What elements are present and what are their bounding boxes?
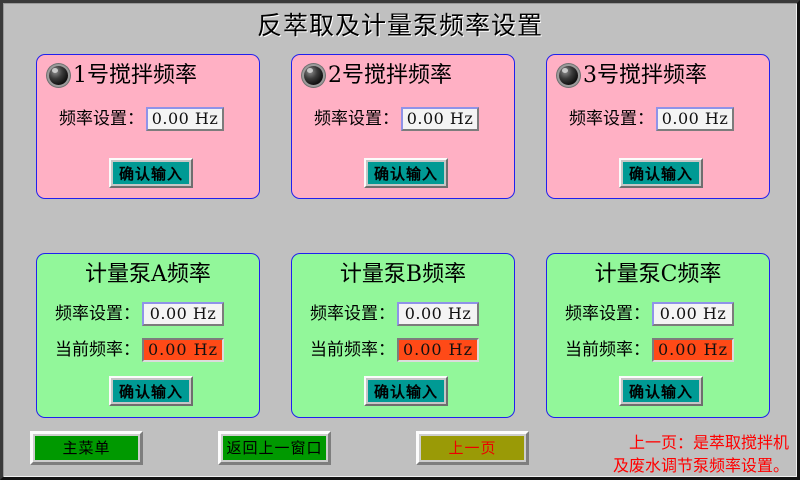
prev-page-button-label: 上一页 [421, 436, 524, 460]
setpoint-label: 频率设置： [314, 109, 399, 129]
main-menu-button-label: 主菜单 [35, 436, 138, 460]
current-frequency-label: 当前频率： [565, 340, 650, 360]
main-menu-button[interactable]: 主菜单 [30, 431, 143, 465]
page-title: 反萃取及计量泵频率设置 [3, 11, 797, 41]
confirm-button[interactable]: 确认输入 [109, 158, 193, 188]
current-frequency-value: 0.00 Hz [142, 338, 224, 362]
setpoint-input[interactable]: 0.00 Hz [401, 107, 479, 131]
confirm-button-label: 确认输入 [368, 162, 444, 184]
confirm-button-label: 确认输入 [368, 380, 444, 402]
mixer-panel-2: 2号搅拌频率 频率设置： 0.00 Hz 确认输入 [291, 54, 515, 199]
confirm-button[interactable]: 确认输入 [619, 376, 703, 406]
prev-page-button[interactable]: 上一页 [416, 431, 529, 465]
confirm-button[interactable]: 确认输入 [364, 376, 448, 406]
setpoint-input[interactable]: 0.00 Hz [397, 302, 479, 326]
panel-heading: 2号搅拌频率 [292, 62, 550, 90]
setpoint-label: 频率设置： [565, 304, 650, 324]
panel-heading: 计量泵A频率 [37, 261, 259, 289]
setpoint-label: 频率设置： [569, 109, 654, 129]
setpoint-label: 频率设置： [59, 109, 144, 129]
confirm-button-label: 确认输入 [113, 162, 189, 184]
mixer-panel-3: 3号搅拌频率 频率设置： 0.00 Hz 确认输入 [546, 54, 770, 199]
setpoint-input[interactable]: 0.00 Hz [656, 107, 734, 131]
current-frequency-value: 0.00 Hz [652, 338, 734, 362]
current-frequency-value: 0.00 Hz [397, 338, 479, 362]
pump-panel-b: 计量泵B频率 频率设置： 0.00 Hz 当前频率： 0.00 Hz 确认输入 [291, 253, 515, 418]
pump-panel-c: 计量泵C频率 频率设置： 0.00 Hz 当前频率： 0.00 Hz 确认输入 [546, 253, 770, 418]
confirm-button-label: 确认输入 [113, 380, 189, 402]
panel-heading: 计量泵B频率 [292, 261, 514, 289]
confirm-button-label: 确认输入 [623, 380, 699, 402]
setpoint-label: 频率设置： [55, 304, 140, 324]
confirm-button[interactable]: 确认输入 [109, 376, 193, 406]
setpoint-input[interactable]: 0.00 Hz [146, 107, 224, 131]
setpoint-label: 频率设置： [310, 304, 395, 324]
back-window-button-label: 返回上一窗口 [223, 436, 326, 460]
confirm-button-label: 确认输入 [623, 162, 699, 184]
current-frequency-label: 当前频率： [310, 340, 395, 360]
panel-heading: 1号搅拌频率 [37, 62, 295, 90]
prev-page-note: 上一页：是萃取搅拌机 及废水调节泵频率设置。 [529, 431, 789, 477]
mixer-panel-1: 1号搅拌频率 频率设置： 0.00 Hz 确认输入 [36, 54, 260, 199]
panel-heading: 计量泵C频率 [547, 261, 769, 289]
hmi-screen: 反萃取及计量泵频率设置 1号搅拌频率 频率设置： 0.00 Hz 确认输入 2号… [0, 0, 800, 480]
current-frequency-label: 当前频率： [55, 340, 140, 360]
setpoint-input[interactable]: 0.00 Hz [652, 302, 734, 326]
setpoint-input[interactable]: 0.00 Hz [142, 302, 224, 326]
confirm-button[interactable]: 确认输入 [364, 158, 448, 188]
panel-heading: 3号搅拌频率 [547, 62, 800, 90]
pump-panel-a: 计量泵A频率 频率设置： 0.00 Hz 当前频率： 0.00 Hz 确认输入 [36, 253, 260, 418]
confirm-button[interactable]: 确认输入 [619, 158, 703, 188]
back-window-button[interactable]: 返回上一窗口 [218, 431, 331, 465]
